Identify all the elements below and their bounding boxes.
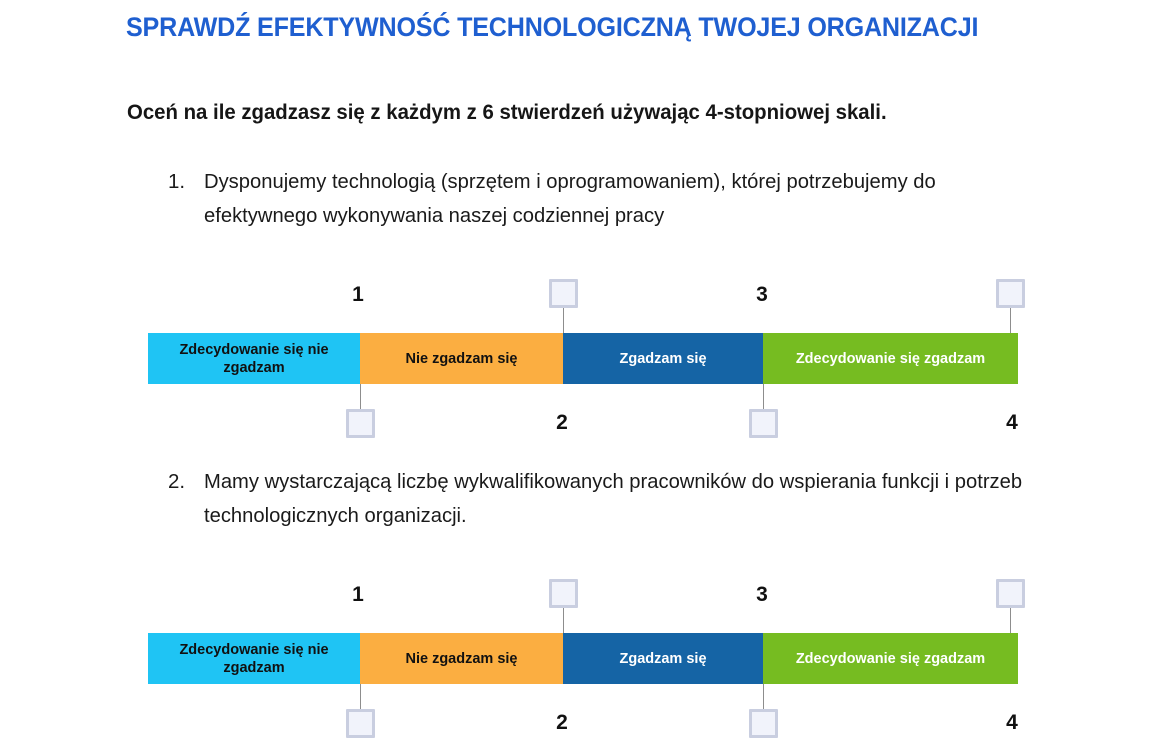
option-number-4: 4 <box>992 411 1032 435</box>
scale-segment-1[interactable]: Zdecydowanie się nie zgadzam <box>148 633 360 684</box>
tick-line-3 <box>763 384 764 409</box>
page-title: SPRAWDŹ EFEKTYWNOŚĆ TECHNOLOGICZNĄ TWOJE… <box>126 11 978 43</box>
scale-segment-label: Zgadzam się <box>619 650 706 668</box>
tick-line-1 <box>360 384 361 409</box>
scale-segment-label: Zdecydowanie się nie zgadzam <box>154 641 354 677</box>
question-text: Dysponujemy technologią (sprzętem i opro… <box>204 165 1036 233</box>
scale-segment-label: Zgadzam się <box>619 350 706 368</box>
instruction-text: Oceń na ile zgadzasz się z każdym z 6 st… <box>127 100 887 126</box>
likert-scale: Zdecydowanie się nie zgadzam Nie zgadzam… <box>148 575 1018 725</box>
question-row: 2. Mamy wystarczającą liczbę wykwalifiko… <box>168 465 1058 533</box>
scale-segment-label: Nie zgadzam się <box>405 350 517 368</box>
option-number-2: 2 <box>542 411 582 435</box>
option-number-1: 1 <box>338 283 378 307</box>
scale-segment-label: Nie zgadzam się <box>405 650 517 668</box>
scale-segment-1[interactable]: Zdecydowanie się nie zgadzam <box>148 333 360 384</box>
scale-segment-3[interactable]: Zgadzam się <box>563 633 763 684</box>
scale-segment-2[interactable]: Nie zgadzam się <box>360 333 563 384</box>
tick-line-1 <box>360 684 361 709</box>
question-number: 2. <box>168 465 204 499</box>
option-checkbox-4[interactable] <box>996 579 1025 608</box>
option-checkbox-1[interactable] <box>346 709 375 738</box>
option-checkbox-2[interactable] <box>549 279 578 308</box>
scale-segment-2[interactable]: Nie zgadzam się <box>360 633 563 684</box>
scale-segment-4[interactable]: Zdecydowanie się zgadzam <box>763 633 1018 684</box>
scale-segment-4[interactable]: Zdecydowanie się zgadzam <box>763 333 1018 384</box>
option-number-3: 3 <box>742 283 782 307</box>
option-number-2: 2 <box>542 711 582 735</box>
option-checkbox-3[interactable] <box>749 709 778 738</box>
option-checkbox-4[interactable] <box>996 279 1025 308</box>
option-checkbox-1[interactable] <box>346 409 375 438</box>
option-number-4: 4 <box>992 711 1032 735</box>
option-checkbox-3[interactable] <box>749 409 778 438</box>
question-number: 1. <box>168 165 204 199</box>
tick-line-3 <box>763 684 764 709</box>
option-number-1: 1 <box>338 583 378 607</box>
tick-line-4 <box>1010 308 1011 333</box>
scale-bar: Zdecydowanie się nie zgadzam Nie zgadzam… <box>148 333 1018 384</box>
option-checkbox-2[interactable] <box>549 579 578 608</box>
tick-line-2 <box>563 608 564 633</box>
likert-scale: Zdecydowanie się nie zgadzam Nie zgadzam… <box>148 275 1018 425</box>
scale-segment-label: Zdecydowanie się nie zgadzam <box>154 341 354 377</box>
option-number-3: 3 <box>742 583 782 607</box>
tick-line-2 <box>563 308 564 333</box>
question-text: Mamy wystarczającą liczbę wykwalifikowan… <box>204 465 1036 533</box>
tick-line-4 <box>1010 608 1011 633</box>
scale-bar: Zdecydowanie się nie zgadzam Nie zgadzam… <box>148 633 1018 684</box>
scale-segment-label: Zdecydowanie się zgadzam <box>796 350 985 368</box>
question-row: 1. Dysponujemy technologią (sprzętem i o… <box>168 165 1058 233</box>
scale-segment-label: Zdecydowanie się zgadzam <box>796 650 985 668</box>
scale-segment-3[interactable]: Zgadzam się <box>563 333 763 384</box>
